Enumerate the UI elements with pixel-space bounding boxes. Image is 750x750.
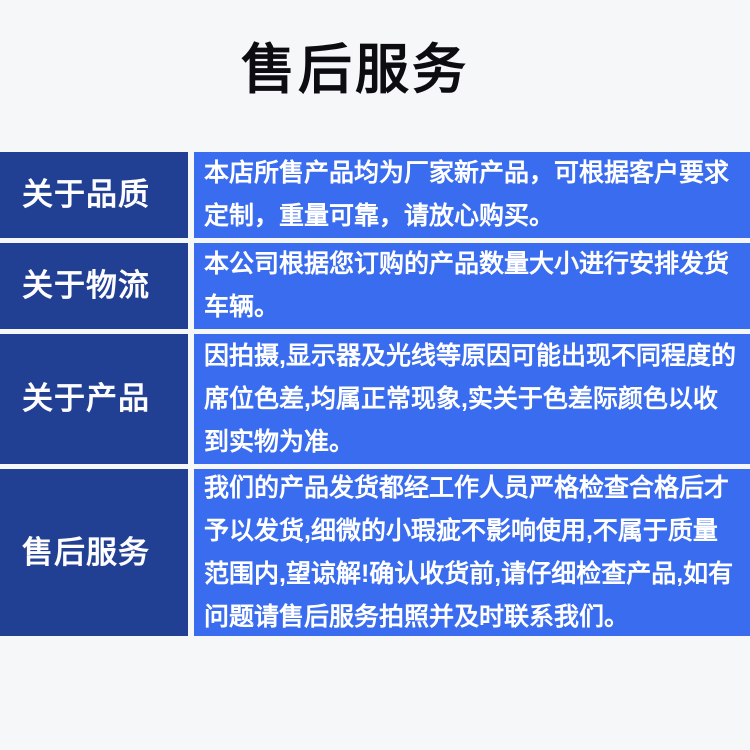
row-body-cell-quality: 本店所售产品均为厂家新产品，可根据客户要求定制，重量可靠，请放心购买。 <box>194 152 750 238</box>
row-body-text: 本店所售产品均为厂家新产品，可根据客户要求定制，重量可靠，请放心购买。 <box>204 152 738 238</box>
row-label-cell-quality: 关于品质 <box>0 152 188 238</box>
row-label-cell-product: 关于产品 <box>0 334 188 464</box>
after-sales-info-table: 关于品质 本店所售产品均为厂家新产品，可根据客户要求定制，重量可靠，请放心购买。… <box>0 152 750 636</box>
row-body-text: 本公司根据您订购的产品数量大小进行安排发货车辆。 <box>204 243 738 329</box>
table-row: 关于品质 本店所售产品均为厂家新产品，可根据客户要求定制，重量可靠，请放心购买。 <box>0 152 750 238</box>
row-body-cell-product: 因拍摄,显示器及光线等原因可能出现不同程度的席位色差,均属正常现象,实关于色差际… <box>194 334 750 464</box>
row-label-text: 关于物流 <box>22 269 150 303</box>
page-title: 售后服务 <box>0 40 710 100</box>
table-row: 关于产品 因拍摄,显示器及光线等原因可能出现不同程度的席位色差,均属正常现象,实… <box>0 334 750 464</box>
row-label-text: 关于产品 <box>22 382 150 416</box>
after-sales-service-page: 售后服务 关于品质 本店所售产品均为厂家新产品，可根据客户要求定制，重量可靠，请… <box>0 0 750 750</box>
row-body-cell-logistics: 本公司根据您订购的产品数量大小进行安排发货车辆。 <box>194 243 750 329</box>
row-label-cell-logistics: 关于物流 <box>0 243 188 329</box>
row-label-text: 售后服务 <box>22 536 150 570</box>
row-body-cell-service: 我们的产品发货都经工作人员严格检查合格后才予以发货,细微的小瑕疵不影响使用,不属… <box>194 469 750 636</box>
row-label-text: 关于品质 <box>22 178 150 212</box>
row-body-text: 因拍摄,显示器及光线等原因可能出现不同程度的席位色差,均属正常现象,实关于色差际… <box>204 335 738 464</box>
table-row: 售后服务 我们的产品发货都经工作人员严格检查合格后才予以发货,细微的小瑕疵不影响… <box>0 469 750 636</box>
row-body-text: 我们的产品发货都经工作人员严格检查合格后才予以发货,细微的小瑕疵不影响使用,不属… <box>204 467 738 639</box>
row-label-cell-service: 售后服务 <box>0 469 188 636</box>
table-row: 关于物流 本公司根据您订购的产品数量大小进行安排发货车辆。 <box>0 243 750 329</box>
